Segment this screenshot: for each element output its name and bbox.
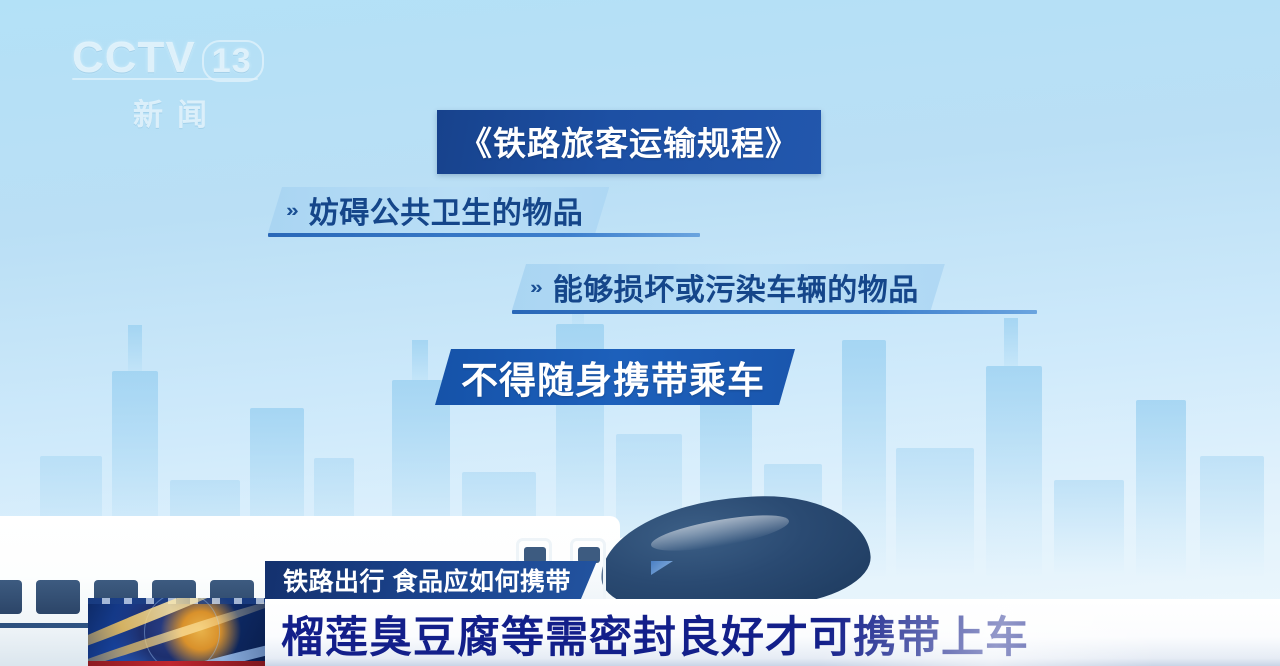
conclusion-text: 不得随身携带乘车 (461, 350, 765, 404)
double-chevron-icon: » (286, 199, 295, 221)
bullet-item-2-underline (512, 310, 1037, 314)
regulation-title-banner: 《铁路旅客运输规程》 (437, 110, 821, 174)
lower-third-headline-text: 榴莲臭豆腐等需密封良好才可携带上车 (281, 603, 1029, 665)
lower-third-kicker-text: 铁路出行 食品应如何携带 (283, 562, 571, 598)
logo-underline (72, 78, 258, 80)
news-globe-logo (88, 598, 270, 666)
logo-text-13: 13 (202, 40, 264, 82)
globe-bottom-red-bar (88, 661, 270, 666)
bullet-item-1-label: 妨碍公共卫生的物品 (309, 188, 584, 232)
conclusion-banner: 不得随身携带乘车 (435, 349, 795, 405)
bullet-item-1-underline (268, 233, 700, 237)
regulation-title-text: 《铁路旅客运输规程》 (459, 125, 799, 162)
bullet-item-2-label: 能够损坏或污染车辆的物品 (553, 265, 919, 309)
lower-third-kicker: 铁路出行 食品应如何携带 (265, 561, 597, 599)
bullet-item-2: » 能够损坏或污染车辆的物品 (512, 264, 945, 310)
logo-text-cctv: CCTV (72, 33, 196, 82)
logo-text-news: 新闻 (72, 90, 282, 134)
broadcast-frame: CCTV13 新闻 《铁路旅客运输规程》 » 妨碍公共卫生的物品 » 能够损坏或… (0, 0, 1280, 666)
cctv13-logo-watermark: CCTV13 新闻 (72, 36, 282, 141)
lower-third-headline-bar: 榴莲臭豆腐等需密封良好才可携带上车 (265, 599, 1280, 666)
bullet-item-1: » 妨碍公共卫生的物品 (268, 187, 609, 233)
double-chevron-icon: » (530, 276, 539, 298)
